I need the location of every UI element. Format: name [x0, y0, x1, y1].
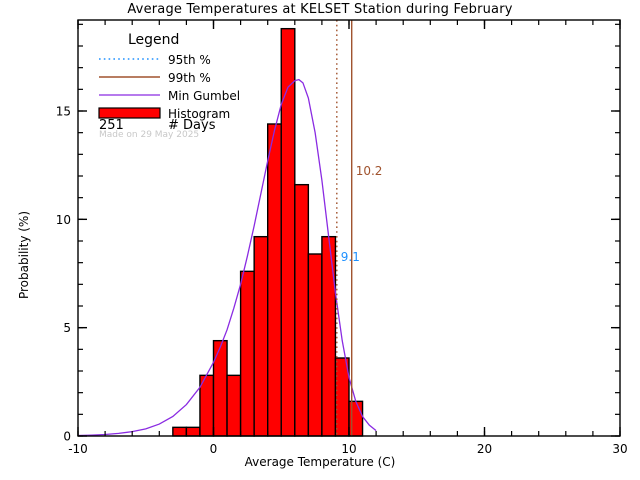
chart-figure: Average Temperatures at KELSET Station d… — [0, 0, 640, 480]
histogram-bar — [254, 237, 268, 436]
x-tick-label: 20 — [477, 442, 492, 456]
legend-label-99th: 99th % — [168, 71, 211, 85]
x-tick-label: 0 — [210, 442, 218, 456]
y-tick-label: 0 — [63, 430, 71, 444]
histogram-bar — [295, 185, 309, 436]
plot-canvas: -100102030051015 — [0, 0, 640, 480]
histogram-bar — [322, 237, 336, 436]
histogram-bar — [308, 254, 322, 436]
y-tick-label: 5 — [63, 321, 71, 335]
made-on-stamp: Made on 29 May 2025 — [99, 130, 199, 140]
x-tick-label: -10 — [68, 442, 88, 456]
histogram-bar — [281, 29, 295, 436]
x-tick-label: 10 — [341, 442, 356, 456]
legend-swatches — [99, 59, 160, 118]
p95-value-label: 9.1 — [341, 250, 360, 264]
legend-label-95th: 95th % — [168, 53, 211, 67]
histogram-bar — [227, 375, 241, 436]
histogram-bar — [173, 427, 187, 436]
legend-label-min-gumbel: Min Gumbel — [168, 89, 240, 103]
x-tick-label: 30 — [612, 442, 627, 456]
y-tick-label: 10 — [56, 213, 71, 227]
histogram-bar — [186, 427, 200, 436]
histogram-bar — [214, 341, 228, 436]
histogram-bar — [268, 124, 282, 436]
legend-title: Legend — [128, 32, 179, 48]
y-tick-label: 15 — [56, 105, 71, 119]
p99-value-label: 10.2 — [356, 164, 383, 178]
histogram-bar — [241, 271, 255, 436]
legend-swatch-histogram — [99, 108, 160, 118]
